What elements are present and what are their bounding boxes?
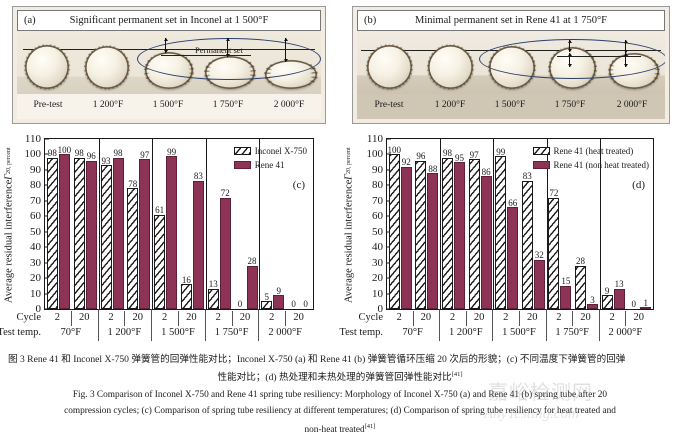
chart-d-y-axis-symbol: Γ: [344, 174, 355, 180]
specimen-image-6: [367, 45, 412, 89]
chart-d-bar-s0-g1: 96: [415, 161, 426, 309]
chart-c-x-cycle-sep-5: [178, 311, 179, 326]
caption-chinese-line-2: 性能对比；(d) 热处理和未热处理的弹簧管回弹性能对比[41]: [8, 367, 672, 385]
photo-panel-a: (a) Significant permanent set in Inconel…: [12, 6, 326, 124]
chart-c-legend-item-1: Rene 41: [234, 159, 307, 171]
chart-c-x-temp-sep-4: [258, 309, 259, 341]
chart-c-x-cycle-row: Cycle 220220220220220: [44, 310, 312, 326]
chart-d-y-tick-label-7: 70: [372, 195, 387, 207]
chart-d-x-temp-sep-1: [439, 309, 440, 341]
chart-d-x-temp-2: 1 500°F: [492, 325, 545, 341]
chart-c-x-cycle-8: 2: [258, 310, 285, 326]
chart-c-y-tick-label-5: 50: [30, 226, 45, 238]
chart-c: Average residual interference Γ20, perce…: [0, 128, 340, 350]
chart-d-x-axis: Cycle 220220220220220 Test temp. 70°F1 2…: [386, 310, 652, 346]
chart-c-group-separator-5: [206, 139, 207, 309]
chart-c-x-temp-0: 70°F: [44, 325, 98, 341]
chart-c-x-cycle-sep-9: [285, 311, 286, 326]
chart-c-bar-label-s1-g1: 96: [87, 151, 96, 161]
chart-d: Average residual interference Γ20, perce…: [340, 128, 680, 350]
chart-c-bar-s1-g6: 72: [220, 198, 231, 309]
panel-a-set-baseline: [161, 55, 251, 56]
panel-b-label-band: Pre-test 1 200°F 1 500°F 1 750°F 2 000°F: [357, 94, 665, 119]
chart-d-panel-letter: (d): [632, 179, 645, 191]
chart-c-bar-label-s1-g5: 83: [194, 171, 203, 181]
chart-d-bar-s1-g1: 88: [427, 173, 438, 309]
panel-a-set-tick-1: [165, 38, 166, 53]
specimen-image-7: [428, 45, 473, 89]
chart-d-x-temp-0: 70°F: [386, 325, 439, 341]
chart-d-y-tick-label-10: 100: [367, 148, 388, 160]
chart-c-bar-s1-g1: 96: [86, 161, 97, 309]
chart-c-x-cycle-2: 2: [98, 310, 125, 326]
chart-d-legend-swatch-0: [533, 147, 550, 155]
chart-d-bar-label-s1-g7: 3: [590, 295, 595, 305]
chart-c-y-axis-subscript: 20, percent: [6, 147, 12, 174]
specimen-image-1: [25, 45, 69, 89]
chart-d-x-temp-sep-2: [492, 309, 493, 341]
chart-c-bar-label-s0-g4: 61: [155, 205, 164, 215]
panel-b-specimen-label-2: 1 200°F: [421, 100, 479, 110]
chart-d-bar-label-s0-g1: 96: [416, 151, 425, 161]
chart-c-x-temp-4: 2 000°F: [258, 325, 312, 341]
chart-d-x-cycle-9: 20: [625, 310, 652, 326]
photo-panel-b: (b) Minimal permanent set in Rene 41 at …: [352, 6, 670, 124]
chart-d-bar-label-s0-g0: 100: [388, 145, 402, 155]
panel-a-specimen-label-4: 1 750°F: [199, 100, 257, 110]
chart-d-y-tick-label-6: 60: [372, 210, 387, 222]
chart-c-group-separator-3: [152, 139, 153, 309]
chart-c-bar-s0-g3: 78: [127, 188, 138, 309]
caption-english-ref: [41]: [365, 423, 376, 430]
chart-c-x-cycle-9: 20: [285, 310, 312, 326]
chart-d-y-tick-label-11: 110: [367, 133, 387, 145]
chart-d-plot-area: 0102030405060708090100110 10092968898959…: [386, 138, 654, 310]
panel-b-title-box: (b) Minimal permanent set in Rene 41 at …: [357, 10, 665, 31]
chart-c-legend-label-1: Rene 41: [255, 159, 285, 171]
panel-b-photo-strip: [357, 31, 665, 94]
chart-d-x-cycle-7: 20: [572, 310, 599, 326]
chart-c-group-separator-1: [99, 139, 100, 309]
chart-d-x-temp-4: 2 000°F: [599, 325, 652, 341]
panel-a-set-tick-3: [285, 38, 286, 62]
panel-a-title-text: Significant permanent set in Inconel at …: [70, 15, 269, 26]
chart-c-panel-letter: (c): [293, 179, 305, 191]
chart-d-bar-label-s0-g5: 83: [523, 171, 532, 181]
chart-d-x-temp-1: 1 200°F: [439, 325, 492, 341]
caption-chinese-line-1: 图 3 Rene 41 和 Inconel X-750 弹簧管的回弹性能对比；I…: [8, 352, 672, 367]
chart-c-x-cycle-1: 20: [71, 310, 98, 326]
chart-d-bar-s1-g7: 3: [587, 304, 598, 309]
panel-a-specimen-label-1: Pre-test: [19, 100, 77, 110]
caption-english-line-1: Fig. 3 Comparison of Inconel X-750 and R…: [14, 388, 666, 404]
chart-d-x-temp-row: Test temp. 70°F1 200°F1 500°F1 750°F2 00…: [386, 325, 652, 341]
chart-c-bar-label-s0-g2: 93: [102, 156, 111, 166]
chart-d-x-cycle-sep-5: [519, 311, 520, 326]
chart-d-x-cycle-sep-3: [466, 311, 467, 326]
chart-d-x-cycle-sep-7: [572, 311, 573, 326]
chart-c-bar-label-s1-g2: 98: [114, 148, 123, 158]
panel-b-set-tick-1: [569, 40, 570, 52]
chart-d-x-cycle-6: 2: [546, 310, 573, 326]
chart-c-bar-s0-g1: 98: [74, 158, 85, 309]
charts-row: Average residual interference Γ20, perce…: [0, 128, 680, 350]
chart-d-x-cycle-2: 2: [439, 310, 466, 326]
caption-chinese-line-2-text: 性能对比；(d) 热处理和未热处理的弹簧管回弹性能对比: [217, 372, 451, 383]
panel-b-specimen-label-1: Pre-test: [359, 100, 419, 110]
chart-d-bar-s0-g5: 83: [522, 181, 533, 309]
chart-c-y-tick-label-2: 20: [30, 272, 45, 284]
chart-c-bar-label-s0-g5: 16: [182, 275, 191, 285]
chart-d-y-tick-label-4: 40: [372, 241, 387, 253]
chart-c-y-tick-label-8: 80: [30, 179, 45, 191]
chart-d-bar-s1-g2: 95: [454, 162, 465, 309]
chart-c-x-cycle-sep-1: [71, 311, 72, 326]
chart-c-legend-item-0: Inconel X-750: [234, 145, 307, 157]
chart-c-bar-s0-g2: 93: [101, 165, 112, 309]
chart-c-y-axis-title-text: Average residual interference: [4, 180, 15, 303]
chart-c-legend-swatch-0: [234, 147, 251, 155]
chart-d-y-tick-label-2: 20: [372, 272, 387, 284]
chart-d-bar-label-s1-g5: 32: [535, 250, 544, 260]
chart-c-x-cycle-3: 20: [124, 310, 151, 326]
panel-b-set-baseline: [557, 56, 641, 57]
chart-c-bar-s1-g7: 28: [247, 266, 258, 309]
chart-c-bar-label-s0-g7: 0: [238, 299, 243, 309]
caption-chinese-ref: [41]: [452, 371, 463, 378]
chart-d-x-temp-sep-3: [546, 309, 547, 341]
chart-d-bar-label-s1-g6: 15: [561, 276, 570, 286]
panel-b-specimen-label-4: 1 750°F: [541, 100, 599, 110]
chart-d-legend-item-0: Rene 41 (heat treated): [533, 145, 649, 157]
chart-c-y-tick-label-4: 40: [30, 241, 45, 253]
chart-d-bar-label-s1-g0: 92: [402, 157, 411, 167]
chart-d-bar-label-s0-g7: 28: [576, 256, 585, 266]
chart-c-bar-s0-g5: 16: [181, 284, 192, 309]
chart-d-x-cycle-3: 20: [466, 310, 493, 326]
chart-d-x-temp-3: 1 750°F: [546, 325, 599, 341]
caption-english-line-3: non-heat treated[41]: [14, 419, 666, 439]
panel-a-title-box: (a) Significant permanent set in Inconel…: [17, 10, 321, 31]
figure-captions: 图 3 Rene 41 和 Inconel X-750 弹簧管的回弹性能对比；I…: [0, 350, 680, 440]
chart-c-bar-label-s1-g4: 99: [167, 147, 176, 157]
chart-c-x-temp-2: 1 500°F: [151, 325, 205, 341]
chart-d-legend-label-0: Rene 41 (heat treated): [554, 145, 634, 157]
chart-d-bar-s0-g7: 28: [575, 266, 586, 309]
chart-d-bar-label-s1-g9: 1: [643, 298, 648, 308]
chart-d-y-tick-label-5: 50: [372, 226, 387, 238]
chart-c-bar-label-s1-g0: 100: [58, 145, 72, 155]
chart-d-x-cycle-sep-9: [625, 311, 626, 326]
panel-a-specimen-label-5: 2 000°F: [259, 100, 319, 110]
chart-c-bar-s0-g0: 98: [47, 158, 58, 309]
chart-c-bar-s1-g3: 97: [139, 159, 150, 309]
chart-d-bar-s0-g3: 97: [469, 159, 480, 309]
chart-d-y-tick-label-9: 90: [372, 164, 387, 176]
panel-a-tag: (a): [24, 11, 36, 30]
chart-d-bar-s1-g0: 92: [401, 167, 412, 309]
chart-c-bar-label-s0-g8: 5: [265, 292, 270, 302]
chart-d-bar-label-s1-g1: 88: [428, 164, 437, 174]
panel-b-title-text: Minimal permanent set in Rene 41 at 1 75…: [415, 15, 607, 26]
chart-c-x-axis: Cycle 220220220220220 Test temp. 70°F1 2…: [44, 310, 312, 346]
chart-d-y-tick-label-8: 80: [372, 179, 387, 191]
chart-d-legend-label-1: Rene 41 (non heat treated): [554, 159, 649, 171]
chart-c-bar-s1-g8: 9: [273, 295, 284, 309]
chart-d-bar-s0-g8: 9: [602, 295, 613, 309]
chart-c-y-axis-title: Average residual interference Γ20, perce…: [2, 136, 16, 314]
chart-d-legend: Rene 41 (heat treated) Rene 41 (non heat…: [533, 145, 649, 173]
chart-c-x-temp-sep-3: [205, 309, 206, 341]
chart-c-x-cycle-sep-7: [232, 311, 233, 326]
chart-d-x-cycle-0: 2: [386, 310, 413, 326]
chart-c-x-cycle-4: 2: [151, 310, 178, 326]
caption-english-line-3-text: non-heat treated: [305, 425, 365, 435]
chart-d-bar-s0-g6: 72: [548, 198, 559, 309]
chart-c-y-tick-label-10: 100: [25, 148, 46, 160]
caption-english-line-2: compression cycles; (c) Comparison of sp…: [14, 404, 666, 420]
chart-d-x-cycle-1: 20: [413, 310, 440, 326]
chart-d-bar-s1-g5: 32: [534, 260, 545, 309]
panel-a-specimen-label-2: 1 200°F: [79, 100, 137, 110]
chart-c-bar-s0-g8: 5: [261, 301, 272, 309]
chart-d-bar-label-s0-g6: 72: [549, 188, 558, 198]
chart-c-y-tick-label-3: 30: [30, 257, 45, 269]
chart-d-bar-label-s0-g8: 9: [605, 286, 610, 296]
chart-c-x-temp-sep-2: [151, 309, 152, 341]
chart-d-y-axis-title: Average residual interference Γ20, perce…: [342, 136, 356, 314]
chart-c-bar-s1-g5: 83: [193, 181, 204, 309]
chart-c-legend-label-0: Inconel X-750: [255, 145, 307, 157]
chart-c-x-cycle-5: 20: [178, 310, 205, 326]
chart-c-x-temp-sep-1: [98, 309, 99, 341]
chart-c-bar-s1-g4: 99: [166, 156, 177, 309]
chart-c-x-temp-3: 1 750°F: [205, 325, 259, 341]
chart-c-y-tick-label-1: 10: [30, 288, 45, 300]
specimen-image-2: [85, 46, 129, 89]
chart-c-bar-label-s0-g6: 13: [209, 279, 218, 289]
chart-c-x-temp-1: 1 200°F: [98, 325, 152, 341]
chart-c-bar-s1-g2: 98: [113, 158, 124, 309]
chart-c-bar-s0-g6: 13: [208, 289, 219, 309]
chart-d-x-cycle-sep-1: [413, 311, 414, 326]
chart-d-legend-item-1: Rene 41 (non heat treated): [533, 159, 649, 171]
chart-d-legend-swatch-1: [533, 161, 550, 169]
chart-c-plot-area: 0102030405060708090100110 98100989693987…: [44, 138, 314, 310]
chart-c-bar-label-s0-g9: 0: [291, 299, 296, 309]
chart-c-y-axis-symbol: Γ: [4, 174, 15, 180]
chart-c-x-temp-row: Test temp. 70°F1 200°F1 500°F1 750°F2 00…: [44, 325, 312, 341]
chart-d-bar-label-s1-g2: 95: [455, 153, 464, 163]
chart-d-x-cycle-4: 2: [492, 310, 519, 326]
chart-d-x-cycle-row: Cycle 220220220220220: [386, 310, 652, 326]
chart-c-y-tick-label-11: 110: [25, 133, 45, 145]
chart-c-bar-label-s1-g9: 0: [303, 299, 308, 309]
chart-d-bar-s1-g8: 13: [614, 289, 625, 309]
panel-b-highlight-ellipse: [479, 39, 665, 79]
chart-d-y-tick-label-1: 10: [372, 288, 387, 300]
chart-d-x-temp-sep-4: [599, 309, 600, 341]
chart-c-x-cycle-header: Cycle: [17, 310, 45, 326]
chart-d-x-temp-header: Test temp.: [339, 325, 386, 341]
panel-a-specimen-label-3: 1 500°F: [139, 100, 197, 110]
chart-c-y-tick-label-6: 60: [30, 210, 45, 222]
chart-d-x-cycle-5: 20: [519, 310, 546, 326]
chart-d-bar-s0-g4: 99: [495, 156, 506, 309]
chart-c-bar-label-s1-g6: 72: [221, 188, 230, 198]
chart-d-bar-s1-g3: 86: [481, 176, 492, 309]
chart-c-x-temp-header: Test temp.: [0, 325, 44, 341]
chart-d-bar-label-s0-g4: 99: [496, 147, 505, 157]
chart-d-y-axis-subscript: 20, percent: [346, 147, 352, 174]
panel-b-set-tick-2: [625, 40, 626, 53]
chart-c-bar-s1-g0: 100: [59, 154, 70, 309]
panel-a-photo-strip: Permanent set: [17, 31, 321, 94]
chart-c-bar-label-s0-g1: 98: [75, 148, 84, 158]
chart-d-bar-label-s0-g9: 0: [631, 299, 636, 309]
chart-d-bar-s1-g6: 15: [560, 286, 571, 309]
chart-c-bar-s0-g4: 61: [154, 215, 165, 309]
chart-c-y-tick-label-9: 90: [30, 164, 45, 176]
caption-english: Fig. 3 Comparison of Inconel X-750 and R…: [14, 388, 666, 439]
chart-c-x-cycle-6: 2: [205, 310, 232, 326]
chart-d-bar-s1-g9: 1: [640, 307, 651, 309]
chart-d-bar-label-s1-g3: 86: [482, 167, 491, 177]
chart-c-x-cycle-7: 20: [232, 310, 259, 326]
photo-panels-row: (a) Significant permanent set in Inconel…: [0, 0, 680, 128]
chart-c-bar-label-s0-g3: 78: [128, 179, 137, 189]
panel-a-label-band: Pre-test 1 200°F 1 500°F 1 750°F 2 000°F: [17, 94, 321, 119]
chart-d-x-cycle-header: Cycle: [359, 310, 387, 326]
chart-d-bar-s1-g4: 66: [507, 207, 518, 309]
panel-a-permanent-set-label: Permanent set: [195, 45, 243, 55]
chart-c-legend-swatch-1: [234, 161, 251, 169]
chart-c-x-cycle-0: 2: [44, 310, 71, 326]
chart-d-bar-label-s1-g8: 13: [615, 279, 624, 289]
chart-d-bar-s0-g0: 100: [389, 154, 400, 309]
chart-c-bar-label-s0-g0: 98: [48, 148, 57, 158]
chart-c-x-cycle-sep-3: [124, 311, 125, 326]
caption-chinese: 图 3 Rene 41 和 Inconel X-750 弹簧管的回弹性能对比；I…: [8, 352, 672, 385]
chart-d-bar-s0-g2: 98: [442, 158, 453, 309]
chart-d-x-cycle-8: 2: [599, 310, 626, 326]
chart-c-bar-label-s1-g3: 97: [140, 150, 149, 160]
chart-c-y-tick-label-7: 70: [30, 195, 45, 207]
panel-b-specimen-label-3: 1 500°F: [481, 100, 539, 110]
panel-b-tag: (b): [364, 11, 376, 30]
panel-b-specimen-label-5: 2 000°F: [601, 100, 663, 110]
chart-c-bar-label-s1-g8: 9: [277, 286, 282, 296]
chart-d-y-tick-label-3: 30: [372, 257, 387, 269]
chart-d-bar-label-s1-g4: 66: [508, 198, 517, 208]
chart-c-legend: Inconel X-750 Rene 41: [234, 145, 307, 173]
chart-d-y-axis-title-text: Average residual interference: [344, 180, 355, 303]
chart-c-bar-label-s1-g7: 28: [248, 256, 257, 266]
chart-d-bar-label-s0-g2: 98: [443, 148, 452, 158]
chart-d-bar-label-s0-g3: 97: [470, 150, 479, 160]
